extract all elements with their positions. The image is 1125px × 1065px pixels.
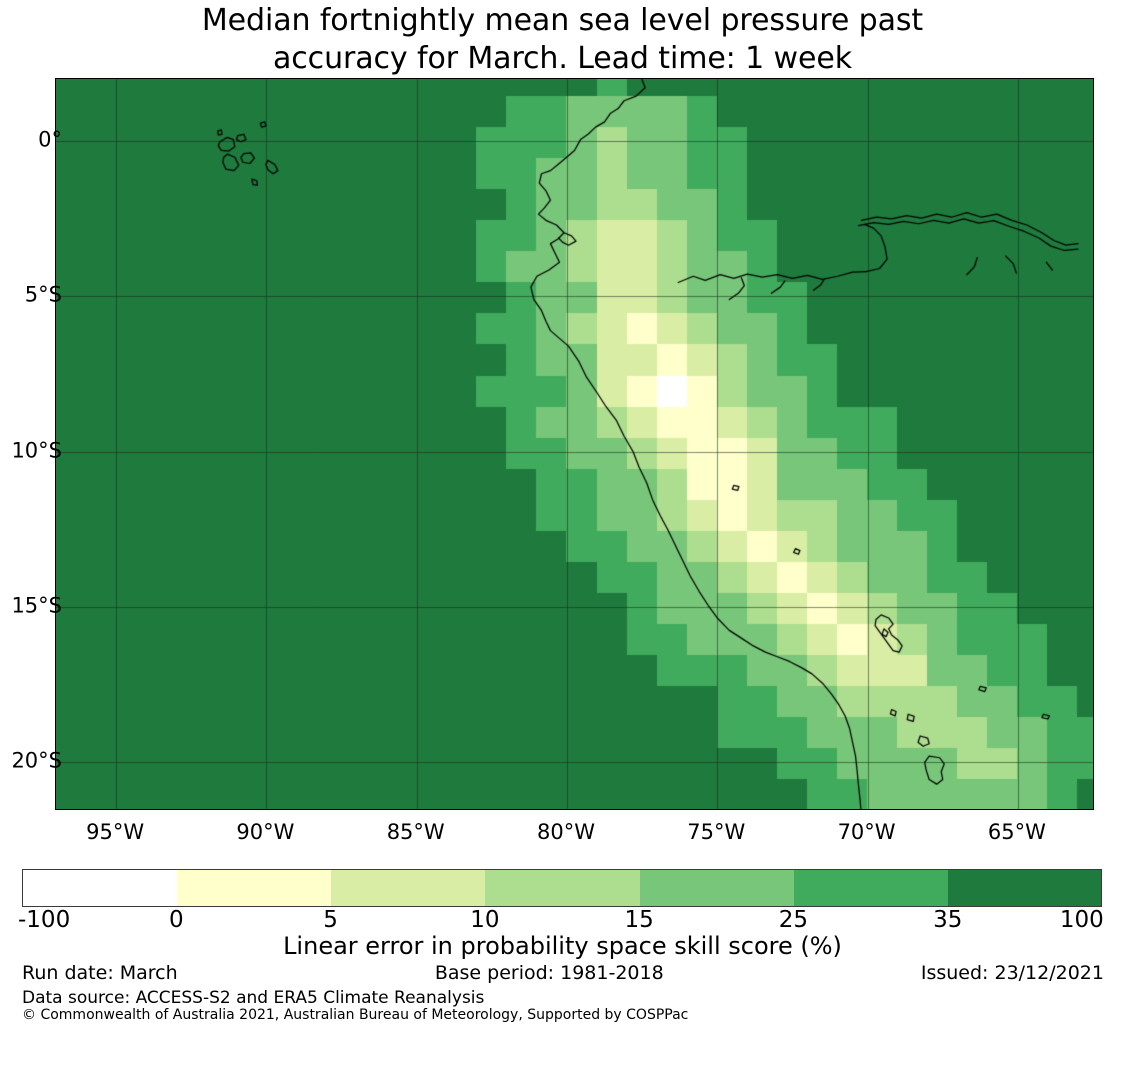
page-title: Median fortnightly mean sea level pressu… bbox=[0, 0, 1125, 78]
latitude-tick-label: 20°S bbox=[11, 751, 62, 772]
colorbar bbox=[22, 869, 1102, 907]
colorbar-band bbox=[23, 870, 177, 906]
colorbar-tick-label: 100 bbox=[1060, 909, 1104, 932]
longitude-tick-label: 70°W bbox=[838, 822, 896, 843]
latitude-tick-label: 0° bbox=[38, 130, 62, 151]
latitude-tick-label: 10°S bbox=[11, 440, 62, 461]
colorbar-band bbox=[948, 870, 1101, 906]
latitude-tick-label: 15°S bbox=[11, 596, 62, 617]
colorbar-tick-label: 10 bbox=[470, 909, 499, 932]
run-date: Run date: March bbox=[22, 962, 178, 984]
copyright-note: © Commonwealth of Australia 2021, Austra… bbox=[22, 1007, 688, 1024]
colorbar-band bbox=[794, 870, 948, 906]
footer-row: Run date: March Base period: 1981-2018 I… bbox=[22, 962, 1104, 984]
longitude-tick-label: 80°W bbox=[537, 822, 595, 843]
colorbar-tick-label: 25 bbox=[779, 909, 808, 932]
colorbar-axis-label: Linear error in probability space skill … bbox=[0, 932, 1125, 960]
data-source-note: Data source: ACCESS-S2 and ERA5 Climate … bbox=[22, 988, 484, 1008]
base-period: Base period: 1981-2018 bbox=[435, 962, 664, 984]
coastline-and-gridline-overlay bbox=[56, 79, 1093, 809]
longitude-tick-label: 95°W bbox=[86, 822, 144, 843]
longitude-tick-label: 90°W bbox=[236, 822, 294, 843]
colorbar-band bbox=[177, 870, 331, 906]
longitude-tick-label: 65°W bbox=[988, 822, 1046, 843]
latitude-tick-label: 5°S bbox=[25, 285, 62, 306]
colorbar-tick-label: 15 bbox=[625, 909, 654, 932]
colorbar-tick-label: 5 bbox=[323, 909, 338, 932]
longitude-tick-label: 75°W bbox=[687, 822, 745, 843]
colorbar-tick-label: -100 bbox=[18, 909, 70, 932]
colorbar-tick-label: 35 bbox=[933, 909, 962, 932]
colorbar-tick-label: 0 bbox=[169, 909, 184, 932]
longitude-tick-label: 85°W bbox=[387, 822, 445, 843]
colorbar-band bbox=[331, 870, 485, 906]
colorbar-container: -1000510152535100 bbox=[22, 869, 1102, 907]
colorbar-band bbox=[485, 870, 639, 906]
colorbar-band bbox=[640, 870, 794, 906]
map-plot-area bbox=[55, 78, 1094, 810]
issued-date: Issued: 23/12/2021 bbox=[921, 962, 1104, 984]
